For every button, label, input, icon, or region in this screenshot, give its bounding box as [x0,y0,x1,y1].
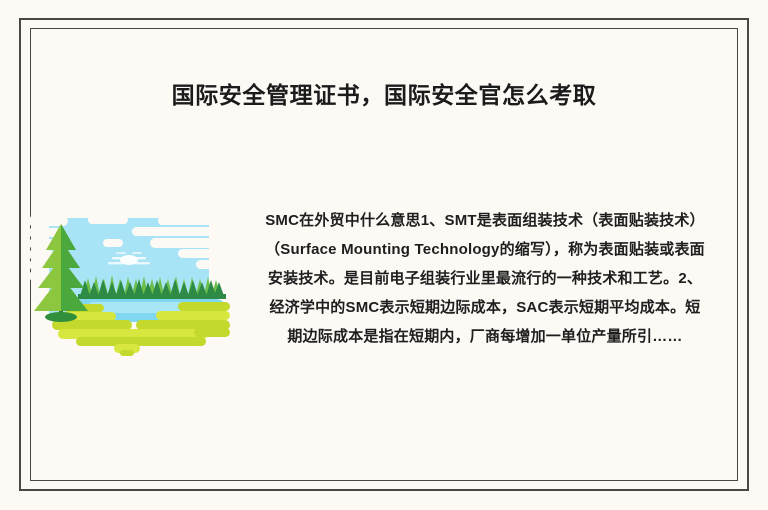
forest-lake-illustration [28,216,230,358]
landscape-svg [28,216,230,358]
page-root: 国际安全管理证书，国际安全官怎么考取 [0,0,768,510]
page-title: 国际安全管理证书，国际安全官怎么考取 [0,78,768,112]
article-body-text: SMC在外贸中什么意思1、SMT是表面组装技术（表面贴装技术）（Surface … [262,206,708,351]
